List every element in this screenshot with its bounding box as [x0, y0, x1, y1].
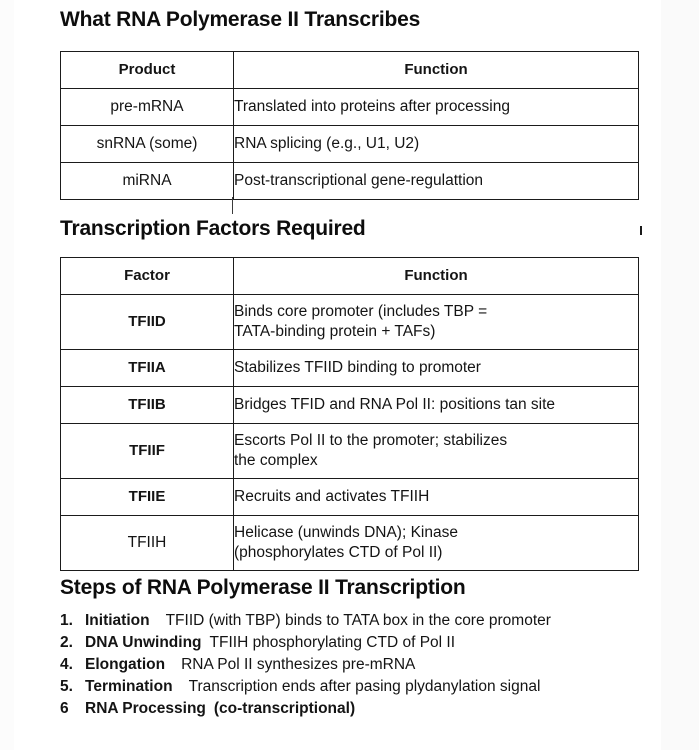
- factor-name: TFIIA: [61, 350, 234, 387]
- page-title-what-rna-polymerase-ii-transcribes: What RNA Polymerase II Transcribes: [60, 8, 420, 32]
- table-row: TFIIE Recruits and activates TFIIH: [61, 479, 639, 516]
- transcription-factors-table: Factor Function TFIID Binds core promote…: [60, 257, 639, 571]
- factor-function: Bridges TFID and RNA Pol II: positions t…: [234, 387, 639, 424]
- table-row: TFIID Binds core promoter (includes TBP …: [61, 295, 639, 350]
- stray-column-rule-artifact: [232, 197, 233, 214]
- list-item: 6RNA Processing(co-transcriptional): [60, 698, 660, 720]
- column-header-function: Function: [234, 52, 639, 89]
- product-name: pre-mRNA: [61, 89, 234, 126]
- step-number: 1.: [60, 610, 77, 632]
- step-detail: RNA Pol II synthesizes pre-mRNA: [181, 656, 415, 673]
- factor-name: TFIIF: [61, 424, 234, 479]
- factor-function-line: the complex: [234, 452, 318, 469]
- step-term: Initiation: [85, 612, 150, 629]
- column-header-product: Product: [61, 52, 234, 89]
- step-detail: (co-transcriptional): [214, 700, 355, 717]
- step-detail: TFIIH phosphorylating CTD of Pol II: [210, 634, 456, 651]
- page-right-margin-strip: [661, 0, 699, 750]
- product-function: Post-transcriptional gene-regulattion: [234, 163, 639, 200]
- factor-name: TFIIE: [61, 479, 234, 516]
- step-detail: TFIID (with TBP) binds to TATA box in th…: [166, 612, 551, 629]
- table-header-row: Product Function: [61, 52, 639, 89]
- product-name: snRNA (some): [61, 126, 234, 163]
- factor-function-line: Escorts Pol II to the promoter; stabiliz…: [234, 432, 507, 449]
- table-row: TFIIH Helicase (unwinds DNA); Kinase (ph…: [61, 516, 639, 571]
- table-row: miRNA Post-transcriptional gene-regulatt…: [61, 163, 639, 200]
- factor-function: Binds core promoter (includes TBP = TATA…: [234, 295, 639, 350]
- factor-name: TFIIH: [61, 516, 234, 571]
- factor-function-line: TATA-binding protein + TAFs): [234, 323, 435, 340]
- factor-function-line: (phosphorylates CTD of Pol II): [234, 544, 442, 561]
- list-item: 4.ElongationRNA Pol II synthesizes pre-m…: [60, 654, 660, 676]
- factor-function-line: Binds core promoter (includes TBP =: [234, 303, 487, 320]
- step-term: DNA Unwinding: [85, 634, 202, 651]
- list-item: 1.InitiationTFIID (with TBP) binds to TA…: [60, 610, 660, 632]
- product-function: RNA splicing (e.g., U1, U2): [234, 126, 639, 163]
- product-name: miRNA: [61, 163, 234, 200]
- product-function: Translated into proteins after processin…: [234, 89, 639, 126]
- factor-function: Escorts Pol II to the promoter; stabiliz…: [234, 424, 639, 479]
- column-header-function: Function: [234, 258, 639, 295]
- factor-function-line: Helicase (unwinds DNA); Kinase: [234, 524, 458, 541]
- column-header-factor: Factor: [61, 258, 234, 295]
- step-term: RNA Processing: [85, 700, 206, 717]
- list-item: 5.TerminationTranscription ends after pa…: [60, 676, 660, 698]
- table-row: TFIIB Bridges TFID and RNA Pol II: posit…: [61, 387, 639, 424]
- step-number: 2.: [60, 632, 77, 654]
- factor-name: TFIIB: [61, 387, 234, 424]
- factor-function: Helicase (unwinds DNA); Kinase (phosphor…: [234, 516, 639, 571]
- stray-ink-mark: [640, 226, 642, 235]
- table-row: TFIIF Escorts Pol II to the promoter; st…: [61, 424, 639, 479]
- page-title-steps-of-rna-polymerase-ii-transcription: Steps of RNA Polymerase II Transcription: [60, 576, 466, 600]
- factor-function: Stabilizes TFIID binding to promoter: [234, 350, 639, 387]
- factor-name: TFIID: [61, 295, 234, 350]
- table-header-row: Factor Function: [61, 258, 639, 295]
- step-number: 5.: [60, 676, 77, 698]
- step-detail: Transcription ends after pasing plydanyl…: [189, 678, 541, 695]
- table-row: pre-mRNA Translated into proteins after …: [61, 89, 639, 126]
- step-term: Termination: [85, 678, 173, 695]
- table-row: TFIIA Stabilizes TFIID binding to promot…: [61, 350, 639, 387]
- table-row: snRNA (some) RNA splicing (e.g., U1, U2): [61, 126, 639, 163]
- page-title-transcription-factors-required: Transcription Factors Required: [60, 217, 366, 241]
- steps-list: 1.InitiationTFIID (with TBP) binds to TA…: [60, 610, 660, 720]
- products-table: Product Function pre-mRNA Translated int…: [60, 51, 639, 200]
- list-item: 2.DNA UnwindingTFIIH phosphorylating CTD…: [60, 632, 660, 654]
- step-number: 6: [60, 698, 77, 720]
- step-number: 4.: [60, 654, 77, 676]
- page-left-margin-strip: [0, 0, 14, 750]
- factor-function: Recruits and activates TFIIH: [234, 479, 639, 516]
- step-term: Elongation: [85, 656, 165, 673]
